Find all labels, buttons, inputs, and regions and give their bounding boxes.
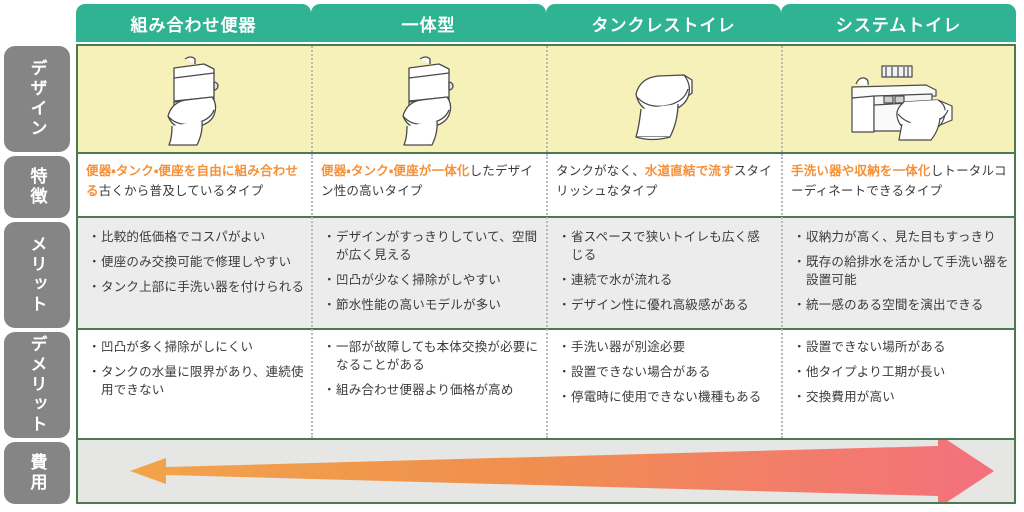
list-item: 連続で水が流れる [560,271,770,289]
list-item: タンクの水量に限界があり、連続使用できない [90,363,306,399]
feature-highlight-1: 便器・タンク・便座が一体化 [321,164,470,178]
row-label-cost: 費用 [4,442,70,504]
row-label-demerits: デメリット [4,332,70,438]
column-header-3: システムトイレ [781,4,1016,42]
list-item: 既存の給排水を活かして手洗い器を設置可能 [795,253,1009,289]
list-item: 統一感のある空間を演出できる [795,296,1009,314]
row-label-design: デザイン [4,46,70,152]
demerit-list-2: 手洗い器が別途必要 設置できない場合がある 停電時に使用できない機種もある [560,338,774,413]
comparison-table: 組み合わせ便器 一体型 タンクレストイレ システムトイレ デザイン 特徴 メリッ… [0,0,1024,512]
illustration-one-piece-toilet [387,54,473,146]
demerit-list-1: 一部が故障しても本体交換が必要になることがある 組み合わせ便器より価格が高め [325,338,539,406]
illustration-tankless-toilet [624,64,712,144]
column-divider-1a [311,46,313,152]
list-item: 他タイプより工期が長い [795,363,1009,381]
list-item: 便座のみ交換可能で修理しやすい [90,253,306,271]
list-item: 停電時に使用できない機種もある [560,388,774,406]
merit-list-2: 省スペースで狭いトイレも広く感じる 連続で水が流れる デザイン性に優れ高級感があ… [560,228,770,322]
feature-cell-0: 便器・タンク・便座を自由に組み合わせる古くから普及しているタイプ [86,162,304,202]
list-item: デザイン性に優れ高級感がある [560,296,770,314]
list-item: タンク上部に手洗い器を付けられる [90,278,306,296]
column-divider-2b [546,154,548,438]
merit-list-3: 収納力が高く、見た目もすっきり 既存の給排水を活かして手洗い器を設置可能 統一感… [795,228,1009,322]
illustration-two-piece-toilet [152,54,238,146]
list-item: 一部が故障しても本体交換が必要になることがある [325,338,539,374]
list-item: 組み合わせ便器より価格が高め [325,381,539,399]
list-item: 省スペースで狭いトイレも広く感じる [560,228,770,264]
list-item: 設置できない場所がある [795,338,1009,356]
merit-list-0: 比較的低価格でコスパがよい 便座のみ交換可能で修理しやすい タンク上部に手洗い器… [90,228,306,303]
demerit-list-0: 凹凸が多く掃除がしにくい タンクの水量に限界があり、連続使用できない [90,338,306,406]
list-item: 手洗い器が別途必要 [560,338,774,356]
list-item: 設置できない場合がある [560,363,774,381]
list-item: 節水性能の高いモデルが多い [325,296,539,314]
column-divider-1b [311,154,313,438]
merit-list-1: デザインがすっきりしていて、空間が広く見える 凹凸が少なく掃除がしやすい 節水性… [325,228,539,322]
list-item: 凹凸が少なく掃除がしやすい [325,271,539,289]
feature-cell-1: 便器・タンク・便座が一体化したデザイン性の高いタイプ [321,162,539,202]
demerit-list-3: 設置できない場所がある 他タイプより工期が長い 交換費用が高い [795,338,1009,413]
list-item: 交換費用が高い [795,388,1009,406]
column-divider-2a [546,46,548,152]
illustration-system-toilet [848,58,958,142]
column-divider-3a [781,46,783,152]
column-header-1: 一体型 [311,4,546,42]
feature-highlight-2: 水道直結で流す [645,164,734,178]
list-item: 凹凸が多く掃除がしにくい [90,338,306,356]
list-item: 比較的低価格でコスパがよい [90,228,306,246]
feature-prefix-2: タンクがなく、 [556,164,645,178]
feature-cell-2: タンクがなく、水道直結で流すスタイリッシュなタイプ [556,162,774,202]
feature-highlight-3: 手洗い器や収納を一体化 [791,164,931,178]
list-item: デザインがすっきりしていて、空間が広く見える [325,228,539,264]
row-label-merits: メリット [4,222,70,328]
cost-arrow-area [78,440,1014,502]
feature-normal-0: 古くから普及しているタイプ [99,184,264,198]
column-header-0: 組み合わせ便器 [76,4,311,42]
cost-range-arrow [78,440,1014,502]
row-label-features: 特徴 [4,156,70,218]
table-body: 便器・タンク・便座を自由に組み合わせる古くから普及しているタイプ 便器・タンク・… [76,44,1016,504]
list-item: 収納力が高く、見た目もすっきり [795,228,1009,246]
column-header-2: タンクレストイレ [546,4,781,42]
table-header-row: 組み合わせ便器 一体型 タンクレストイレ システムトイレ [0,4,1024,42]
feature-cell-3: 手洗い器や収納を一体化しトータルコーディネートできるタイプ [791,162,1009,202]
column-divider-3b [781,154,783,438]
